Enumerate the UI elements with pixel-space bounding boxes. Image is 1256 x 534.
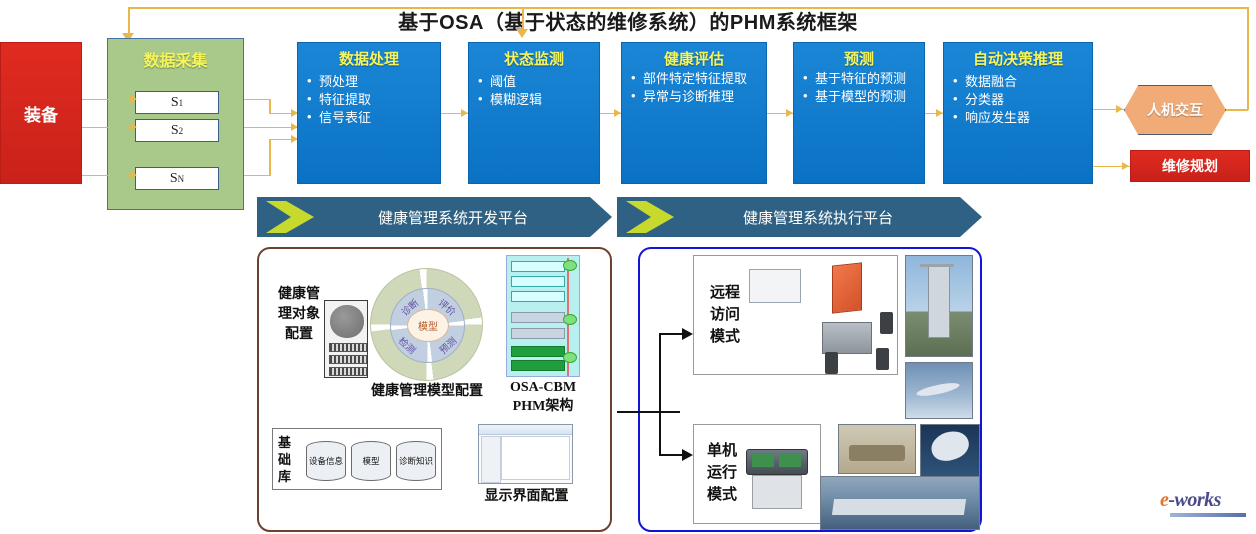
exec-feed-line (617, 411, 680, 413)
arrow-to-remote-mode (682, 328, 693, 340)
sensor-sn-label: S (170, 171, 178, 187)
store-diagnosis-knowledge: 诊断知识 (396, 441, 436, 481)
list-item: 基于特征的预测 (800, 70, 918, 87)
photo-rocket-launch-tower (905, 255, 973, 357)
feedback-line-right (1247, 7, 1249, 110)
feedback-branch-equipment (128, 7, 130, 35)
arrow-decision-to-hmi (1116, 105, 1123, 113)
osa-layer-bar (511, 291, 565, 302)
exec-branch-vertical (659, 333, 661, 455)
line-sn-rise (269, 139, 271, 176)
standalone-mode-label: 单机运行模式 (703, 440, 741, 506)
remote-server-icon (832, 262, 862, 313)
store-model: 模型 (351, 441, 391, 481)
list-item: 部件特定特征提取 (628, 70, 760, 87)
process-box-title: 自动决策推理 (950, 48, 1086, 69)
list-item: 信号表征 (304, 109, 434, 126)
feedback-arrow-acquisition (516, 29, 528, 38)
banner-exec-platform[interactable]: 健康管理系统执行平台 (617, 197, 982, 237)
osa-cbm-caption: OSA-CBM PHM架构 (498, 378, 588, 416)
remote-client-icon (825, 352, 838, 374)
cabinet-strip-icon (329, 355, 367, 364)
health-object-config-text: 健康管理对象配置 (275, 285, 323, 345)
process-box-items: 基于特征的预测 基于模型的预测 (800, 70, 918, 105)
console-base-icon (752, 475, 802, 509)
process-box-title: 健康评估 (628, 48, 760, 69)
line-s1-drop (269, 99, 271, 113)
list-item: 阈值 (475, 73, 593, 90)
arrow-monitor-to-health (614, 109, 621, 117)
model-config-caption: 健康管理模型配置 (368, 382, 486, 401)
hmi-label: 人机交互 (1124, 85, 1226, 135)
list-item: 分类器 (950, 91, 1086, 108)
hmi-hexagon[interactable]: 人机交互 (1124, 85, 1224, 133)
photo-aircraft-carrier (820, 476, 980, 530)
arrow-to-standalone-mode (682, 449, 693, 461)
banner-exec-platform-label: 健康管理系统执行平台 (674, 207, 982, 228)
arrow-equipment-s2 (130, 123, 137, 131)
list-item: 预处理 (304, 73, 434, 90)
remote-access-mode-label: 远程访问模式 (705, 282, 745, 348)
osa-node-icon (563, 352, 577, 363)
data-acquisition-title: 数据采集 (108, 47, 243, 71)
thumbnail-sidebar (481, 436, 501, 483)
banner-dev-platform[interactable]: 健康管理系统开发平台 (257, 197, 612, 237)
process-box-items: 阈值 模糊逻辑 (475, 73, 593, 108)
chevron-right-icon (266, 201, 314, 233)
equipment-box[interactable]: 装备 (0, 42, 82, 184)
page-title: 基于OSA（基于状态的维修系统）的PHM系统框架 (0, 6, 1256, 35)
aircraft-body-shape (916, 381, 961, 399)
process-box-items: 部件特定特征提取 异常与诊断推理 (628, 70, 760, 105)
list-item: 响应发生器 (950, 109, 1086, 126)
process-box-prognostics[interactable]: 预测 基于特征的预测 基于模型的预测 (793, 42, 925, 184)
sensor-s2[interactable]: S2 (135, 119, 219, 142)
osa-layer-bar (511, 346, 565, 357)
chevron-right-icon (626, 201, 674, 233)
console-screen-icon (752, 453, 774, 467)
base-library-label: 基础库 (278, 434, 296, 485)
remote-client-icon (880, 312, 893, 334)
process-box-data-processing[interactable]: 数据处理 预处理 特征提取 信号表征 (297, 42, 441, 184)
cabinet-screen-icon (330, 305, 364, 338)
equipment-label: 装备 (24, 101, 58, 126)
remote-client-icon (876, 348, 889, 370)
banner-dev-platform-label: 健康管理系统开发平台 (314, 207, 612, 228)
osa-node-icon (563, 314, 577, 325)
process-box-title: 状态监测 (475, 48, 593, 69)
console-screen-icon (779, 453, 801, 467)
osa-layer-bar (511, 276, 565, 287)
wheel-center-label: 模型 (407, 309, 449, 342)
tank-hull-shape (849, 445, 905, 461)
data-acquisition-box[interactable]: 数据采集 S1 S2 SN (107, 38, 244, 210)
cabinet-strip-icon (329, 343, 367, 352)
process-box-decision-reasoning[interactable]: 自动决策推理 数据融合 分类器 响应发生器 (943, 42, 1093, 184)
logo-text: e-works (1160, 489, 1250, 512)
list-item: 异常与诊断推理 (628, 88, 760, 105)
display-config-caption: 显示界面配置 (474, 485, 579, 505)
health-object-config-label: 健康管理对象配置 (275, 285, 323, 345)
logo-works: -works (1168, 489, 1221, 511)
process-box-items: 预处理 特征提取 信号表征 (304, 73, 434, 126)
sensor-sn[interactable]: SN (135, 167, 219, 190)
process-box-condition-monitoring[interactable]: 状态监测 阈值 模糊逻辑 (468, 42, 600, 184)
sensor-s1-label: S (171, 95, 179, 111)
osa-layer-bar (511, 312, 565, 323)
line-equipment-s1 (82, 99, 134, 100)
list-item: 基于模型的预测 (800, 88, 918, 105)
equipment-cabinet-icon (324, 300, 368, 378)
sensor-s2-index: 2 (179, 126, 184, 136)
photo-tank (838, 424, 916, 474)
cabinet-strip-icon (329, 367, 367, 376)
arrow-equipment-sn (130, 171, 137, 179)
maintenance-planning-box[interactable]: 维修规划 (1130, 150, 1250, 182)
osa-node-icon (563, 260, 577, 271)
line-sn-out (244, 175, 270, 176)
arrow-equipment-s1 (130, 95, 137, 103)
remote-report-icon (749, 269, 801, 303)
carrier-deck-shape (832, 499, 966, 515)
list-item: 模糊逻辑 (475, 91, 593, 108)
sensor-sn-index: N (178, 174, 185, 184)
line-s1-out (244, 99, 270, 100)
osa-layer-bar (511, 328, 565, 339)
store-device-info: 设备信息 (306, 441, 346, 481)
osa-layer-bar (511, 261, 565, 272)
base-library-box: 基础库 设备信息 模型 诊断知识 (272, 428, 442, 490)
process-box-items: 数据融合 分类器 响应发生器 (950, 73, 1086, 126)
sensor-s2-label: S (171, 123, 179, 139)
model-config-wheel: 诊断 评价 检测 预测 模型 (370, 268, 483, 381)
list-item: 特征提取 (304, 91, 434, 108)
list-item: 数据融合 (950, 73, 1086, 90)
sensor-s1-index: 1 (179, 98, 184, 108)
process-box-title: 数据处理 (304, 48, 434, 69)
osa-layer-bar (511, 360, 565, 371)
arrow-prognostic-to-decision (936, 109, 943, 117)
arrow-proc-to-monitor (461, 109, 468, 117)
sensor-s1[interactable]: S1 (135, 91, 219, 114)
logo-underline (1170, 513, 1246, 517)
launch-tower-shape (928, 266, 950, 338)
thumbnail-toolbar (479, 425, 572, 435)
thumbnail-canvas (501, 436, 570, 480)
arrow-health-to-prognostic (786, 109, 793, 117)
line-equipment-sn (82, 175, 134, 176)
photo-aircraft (905, 362, 973, 419)
process-box-title: 预测 (800, 48, 918, 69)
feedback-line-top (128, 7, 1249, 9)
feedback-branch-acquisition (522, 7, 524, 31)
eworks-logo: e-works (1160, 489, 1250, 523)
feedback-line-hmi-stub (1222, 109, 1248, 111)
remote-monitor-icon (822, 322, 872, 354)
line-equipment-s2 (82, 127, 134, 128)
dish-shape (928, 427, 973, 465)
process-box-health-assessment[interactable]: 健康评估 部件特定特征提取 异常与诊断推理 (621, 42, 767, 184)
osa-cbm-architecture-thumbnail (506, 255, 580, 377)
launch-arm-shape (920, 264, 954, 267)
display-config-thumbnail (478, 424, 573, 484)
maintenance-planning-label: 维修规划 (1162, 156, 1218, 176)
arrow-decision-to-maintenance (1122, 162, 1129, 170)
